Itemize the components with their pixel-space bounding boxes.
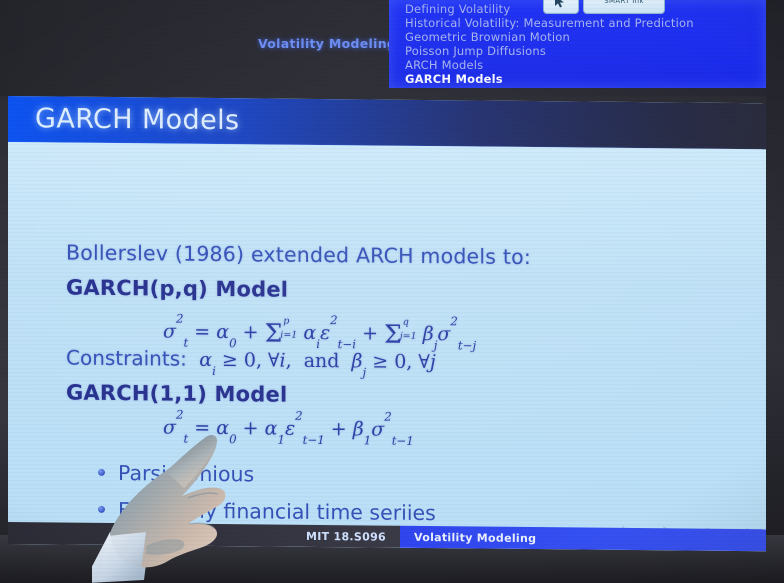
slide-body: Bollerslev (1986) extended ARCH models t… bbox=[8, 142, 766, 551]
footer-course-label: MIT 18.S096 bbox=[8, 522, 400, 548]
equation-garch-11: σ2t = α0 + α1ε2t−1 + β1σ2t−1 bbox=[163, 416, 414, 440]
outline-item-geometric-brownian-motion[interactable]: Geometric Brownian Motion bbox=[405, 30, 766, 44]
bullet-parsimonious: Parsimonious bbox=[98, 461, 254, 486]
bullet-dot-icon bbox=[98, 506, 105, 513]
smart-ink-label: SMART Ink bbox=[583, 0, 665, 14]
intro-sentence: Bollerslev (1986) extended ARCH models t… bbox=[66, 241, 531, 269]
wall-side-label: Volatility Modeling bbox=[258, 36, 396, 51]
projector-screenshot: Volatility Modeling Defining Volatility … bbox=[0, 0, 784, 583]
outline-item-arch-models[interactable]: ARCH Models bbox=[405, 58, 766, 72]
equation-garch-pq: σ2t = α0 + Σpi=1 αiε2t−i + Σqj=1 βjσ2t−j bbox=[163, 314, 476, 346]
bullet-fits-many-series: Fits many financial time seriies bbox=[98, 498, 436, 525]
pen-cursor-icon[interactable] bbox=[543, 0, 579, 14]
page-title: GARCH Models bbox=[35, 103, 239, 136]
bullet-dot-icon bbox=[98, 469, 105, 476]
outline-item-garch-models[interactable]: GARCH Models bbox=[405, 72, 766, 86]
outline-item-poisson-jump-diffusions[interactable]: Poisson Jump Diffusions bbox=[405, 44, 766, 58]
constraints-line: Constraints: αi ≥ 0, ∀i, and βj ≥ 0, ∀j bbox=[66, 346, 436, 374]
bullet-label: Parsimonious bbox=[118, 461, 254, 486]
projected-slide: GARCH Models Bollerslev (1986) extended … bbox=[8, 96, 766, 551]
section-heading-garch-11: GARCH(1,1) Model bbox=[66, 381, 287, 407]
outline-item-historical-volatility[interactable]: Historical Volatility: Measurement and P… bbox=[405, 16, 766, 30]
slide-title-bar: GARCH Models bbox=[8, 96, 766, 149]
wall-right-area bbox=[766, 0, 784, 583]
wall-left-area bbox=[0, 96, 8, 556]
footer-section-label: Volatility Modeling bbox=[400, 526, 766, 552]
constraints-label: Constraints: bbox=[66, 346, 187, 371]
smart-ink-toolbar[interactable]: SMART Ink bbox=[543, 0, 665, 14]
bullet-label: Fits many financial time seriies bbox=[118, 498, 436, 525]
section-heading-garch-pq: GARCH(p,q) Model bbox=[66, 276, 288, 302]
